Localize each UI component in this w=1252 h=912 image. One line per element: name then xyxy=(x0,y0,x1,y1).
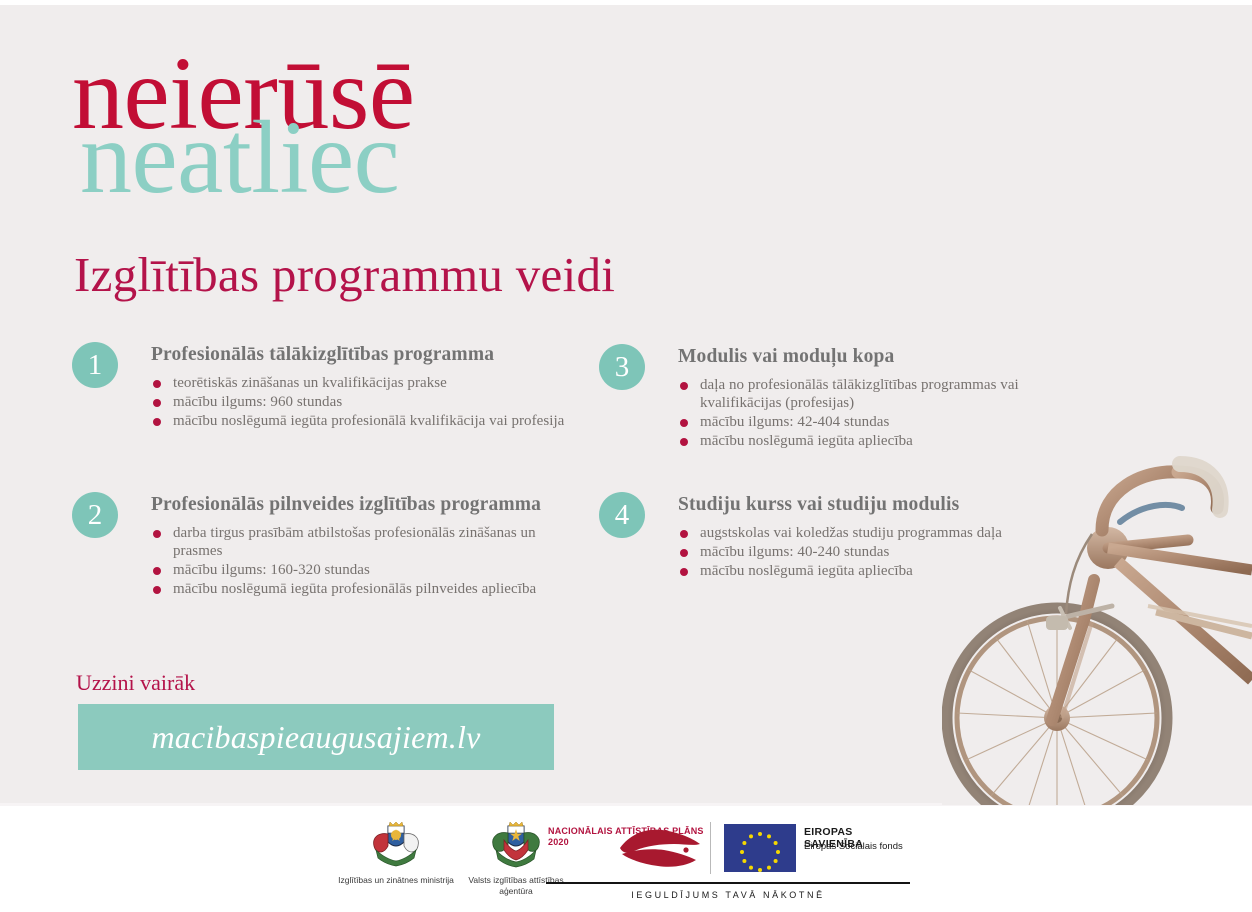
item-title-1: Profesionālās tālākizglītības programma xyxy=(151,342,572,367)
item-number-badge-2: 2 xyxy=(72,492,118,538)
program-item-1: 1 Profesionālās tālākizglītības programm… xyxy=(72,342,572,431)
bullet: mācību noslēgumā iegūta apliecība xyxy=(678,432,1099,450)
item-bullets-1: teorētiskās zināšanas un kvalifikācijas … xyxy=(151,374,572,430)
item-bullets-4: augstskolas vai koledžas studiju program… xyxy=(678,524,1099,580)
cta-label: Uzzini vairāk xyxy=(76,670,195,696)
bullet: mācību ilgums: 160-320 stundas xyxy=(151,561,572,579)
bullet: darba tirgus prasībām atbilstošas profes… xyxy=(151,524,572,560)
item-title-4: Studiju kurss vai studiju modulis xyxy=(678,492,1099,517)
item-body-2: Profesionālās pilnveides izglītības prog… xyxy=(151,492,572,598)
page-title: Izglītības programmu veidi xyxy=(74,246,615,304)
footer-bar: Izglītības un zinātnes ministrija Valsts… xyxy=(0,806,1252,912)
footer-logos: Izglītības un zinātnes ministrija Valsts… xyxy=(336,820,906,906)
latvia-coat-of-arms-icon xyxy=(488,820,544,868)
item-body-1: Profesionālās tālākizglītības programma … xyxy=(151,342,572,430)
bullet: mācību noslēgumā iegūta apliecība xyxy=(678,562,1099,580)
cta-url-button[interactable]: macibaspieaugusajiem.lv xyxy=(78,704,554,770)
bullet: mācību noslēgumā iegūta profesionālā kva… xyxy=(151,412,572,430)
program-item-2: 2 Profesionālās pilnveides izglītības pr… xyxy=(72,492,572,599)
poster-root: neierūsē neatliec Izglītības programmu v… xyxy=(0,0,1252,912)
footer-slogan: IEGULDĪJUMS TAVĀ NĀKOTNĒ xyxy=(546,888,910,902)
item-number-badge-4: 4 xyxy=(599,492,645,538)
item-title-2: Profesionālās pilnveides izglītības prog… xyxy=(151,492,572,517)
item-body-3: Modulis vai moduļu kopa daļa no profesio… xyxy=(678,344,1099,450)
bullet: daļa no profesionālās tālākizglītības pr… xyxy=(678,376,1099,412)
program-item-4: 4 Studiju kurss vai studiju modulis augs… xyxy=(599,492,1099,581)
bullet: mācību ilgums: 40-240 stundas xyxy=(678,543,1099,561)
bicycle-photo xyxy=(942,430,1252,805)
logo-izm: Izglītības un zinātnes ministrija xyxy=(336,820,456,886)
bullet: teorētiskās zināšanas un kvalifikācijas … xyxy=(151,374,572,392)
eu-flag-icon xyxy=(724,824,796,872)
logo-european-union: EIROPAS SAVIENĪBA Eiropas Sociālais fond… xyxy=(724,824,914,876)
bullet: mācību ilgums: 42-404 stundas xyxy=(678,413,1099,431)
footer-rule xyxy=(546,882,910,884)
logo-line-neatliec: neatliec xyxy=(80,106,399,210)
cta-url-text: macibaspieaugusajiem.lv xyxy=(78,704,554,770)
item-bullets-3: daļa no profesionālās tālākizglītības pr… xyxy=(678,376,1099,450)
item-bullets-2: darba tirgus prasībām atbilstošas profes… xyxy=(151,524,572,598)
latvia-map-icon xyxy=(616,824,702,872)
bullet: mācību noslēgumā iegūta profesionālās pi… xyxy=(151,580,572,598)
item-number-badge-3: 3 xyxy=(599,344,645,390)
item-number-badge-1: 1 xyxy=(72,342,118,388)
eu-subtitle: Eiropas Sociālais fonds xyxy=(804,841,903,853)
logo-nap2020: NACIONĀLAIS ATTĪSTĪBAS PLĀNS 2020 xyxy=(544,824,704,876)
footer-divider xyxy=(710,822,711,874)
logo-izm-caption: Izglītības un zinātnes ministrija xyxy=(336,875,456,886)
bullet: mācību ilgums: 960 stundas xyxy=(151,393,572,411)
item-title-3: Modulis vai moduļu kopa xyxy=(678,344,1099,369)
item-body-4: Studiju kurss vai studiju modulis augsts… xyxy=(678,492,1099,580)
program-item-3: 3 Modulis vai moduļu kopa daļa no profes… xyxy=(599,344,1099,451)
bullet: augstskolas vai koledžas studiju program… xyxy=(678,524,1099,542)
bicycle-illustration xyxy=(942,430,1252,805)
latvia-coat-of-arms-icon xyxy=(368,820,424,868)
brand-logo: neierūsē neatliec xyxy=(72,42,712,222)
